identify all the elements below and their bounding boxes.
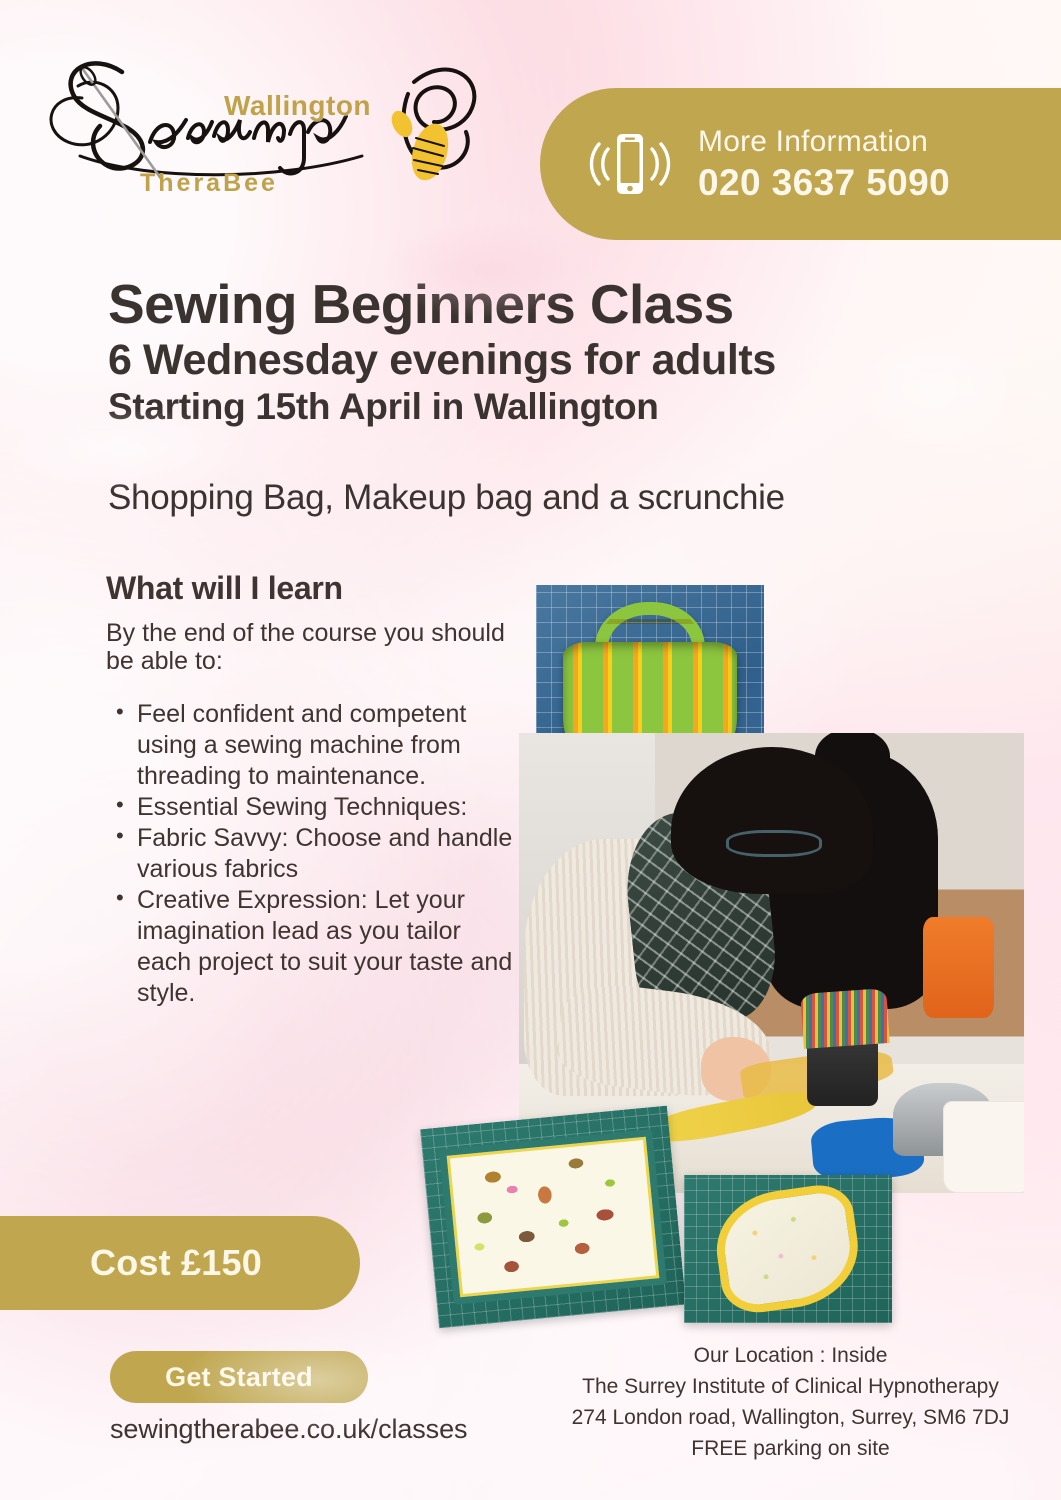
pouch-photo [684, 1175, 892, 1323]
owl-print-pattern [447, 1137, 659, 1297]
more-information-label: More Information [698, 125, 950, 159]
phone-number[interactable]: 020 3637 5090 [698, 162, 950, 203]
learning-outcomes-list: Feel confident and competent using a sew… [106, 699, 516, 1009]
orange-object [923, 917, 994, 1018]
location-line-1: Our Location : Inside [520, 1340, 1061, 1371]
page-title: Sewing Beginners Class [108, 276, 998, 333]
get-started-label: Get Started [165, 1362, 313, 1393]
logo-wallington-text: Wallington [224, 90, 371, 122]
logo-therabee-text: TheraBee [140, 169, 278, 198]
list-item: Feel confident and competent using a sew… [106, 699, 516, 792]
pouch-print-pattern [719, 1190, 857, 1309]
what-will-i-learn-section: What will I learn By the end of the cour… [106, 570, 516, 1009]
pencils [800, 988, 889, 1049]
projects-subtitle: Shopping Bag, Makeup bag and a scrunchie [108, 478, 1008, 518]
start-date-line: Starting 15th April in Wallington [108, 386, 998, 427]
learn-intro: By the end of the course you should be a… [106, 619, 516, 675]
website-url[interactable]: sewingtherabee.co.uk/classes [110, 1414, 540, 1445]
glasses-icon [726, 830, 822, 858]
poster-canvas: Wallington TheraBee More Information 020… [0, 0, 1061, 1500]
makeup-bag-photo [420, 1106, 686, 1329]
contact-banner[interactable]: More Information 020 3637 5090 [540, 88, 1061, 240]
learn-heading: What will I learn [106, 570, 516, 607]
location-block: Our Location : Inside The Surrey Institu… [520, 1340, 1061, 1464]
cost-label: Cost £150 [38, 1242, 262, 1284]
location-line-2: The Surrey Institute of Clinical Hypnoth… [520, 1371, 1061, 1402]
patterned-mug [943, 1101, 1024, 1193]
location-line-4: FREE parking on site [520, 1433, 1061, 1464]
cost-badge: Cost £150 [0, 1216, 360, 1310]
makeup-bag-body [439, 1129, 666, 1305]
schedule-line: 6 Wednesday evenings for adults [108, 337, 998, 384]
get-started-button[interactable]: Get Started [110, 1351, 368, 1403]
list-item: Fabric Savvy: Choose and handle various … [106, 823, 516, 885]
mobile-phone-ringing-icon [584, 125, 674, 203]
location-line-3: 274 London road, Wallington, Surrey, SM6… [520, 1402, 1061, 1433]
list-item: Creative Expression: Let your imaginatio… [106, 885, 516, 1009]
list-item: Essential Sewing Techniques: [106, 792, 516, 823]
heading-block: Sewing Beginners Class 6 Wednesday eveni… [108, 276, 998, 427]
contact-text: More Information 020 3637 5090 [698, 125, 950, 203]
brand-logo: Wallington TheraBee [22, 34, 492, 184]
